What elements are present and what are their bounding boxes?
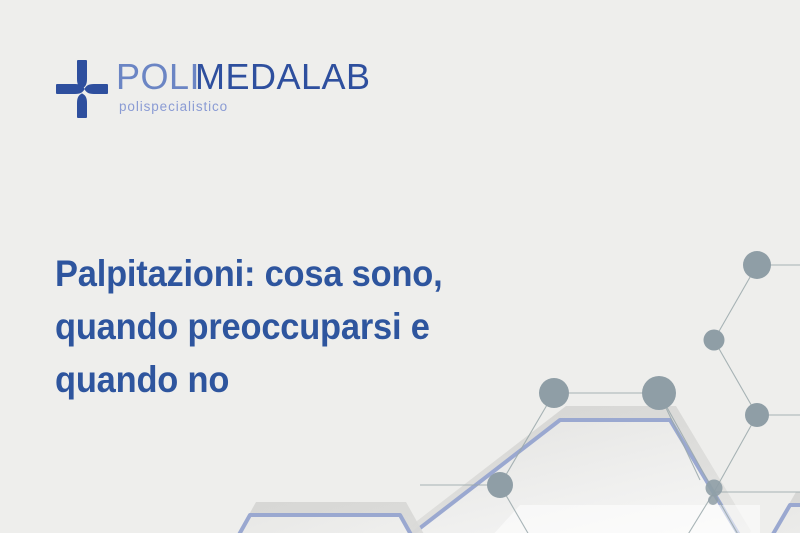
logo-wordmark-medalab: MEDALAB <box>195 58 371 97</box>
hexagon-inner-fold-1 <box>470 505 760 533</box>
hexagon-shape-large-1 <box>398 406 751 533</box>
lattice-node <box>704 330 725 351</box>
page-title: Palpitazioni: cosa sono, quando preoccup… <box>55 247 492 406</box>
site-logo[interactable]: POLI MEDALAB polispecialistico <box>56 58 386 118</box>
logo-wordmark-svg: POLI MEDALAB <box>116 58 386 98</box>
lattice-node <box>539 378 569 408</box>
page-title-line: Palpitazioni: cosa sono, <box>55 247 492 300</box>
logo-wordmark: POLI MEDALAB <box>116 58 386 98</box>
hexagon-shape-large-3 <box>720 492 800 533</box>
logo-tagline: polispecialistico <box>119 99 386 114</box>
polimedalab-cross-icon <box>56 60 108 118</box>
lattice-node <box>708 495 718 505</box>
article-cover-card: POLI MEDALAB polispecialistico Palpitazi… <box>0 0 800 533</box>
lattice-nodes <box>487 251 771 505</box>
lattice-node <box>745 403 769 427</box>
lattice-node <box>487 472 513 498</box>
page-title-line: quando no <box>55 353 492 406</box>
lattice-node <box>642 376 676 410</box>
hexagon-shape-large-2 <box>180 502 476 533</box>
logo-wordmark-poli: POLI <box>116 58 200 97</box>
lattice-node <box>706 480 723 497</box>
page-title-line: quando preoccuparsi e <box>55 300 492 353</box>
lattice-node <box>743 251 771 279</box>
logo-text-block: POLI MEDALAB polispecialistico <box>116 58 386 114</box>
